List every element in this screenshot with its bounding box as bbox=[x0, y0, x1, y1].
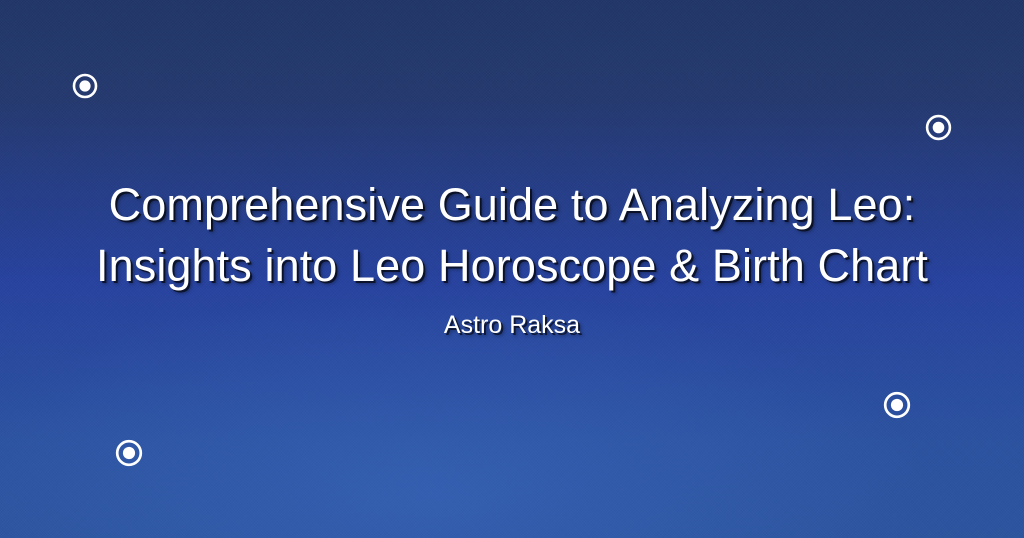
slide-subtitle: Astro Raksa bbox=[0, 310, 1024, 340]
slide-title: Comprehensive Guide to Analyzing Leo: In… bbox=[0, 174, 1024, 296]
slide-content: Comprehensive Guide to Analyzing Leo: In… bbox=[0, 0, 1024, 538]
title-slide: Comprehensive Guide to Analyzing Leo: In… bbox=[0, 0, 1024, 538]
